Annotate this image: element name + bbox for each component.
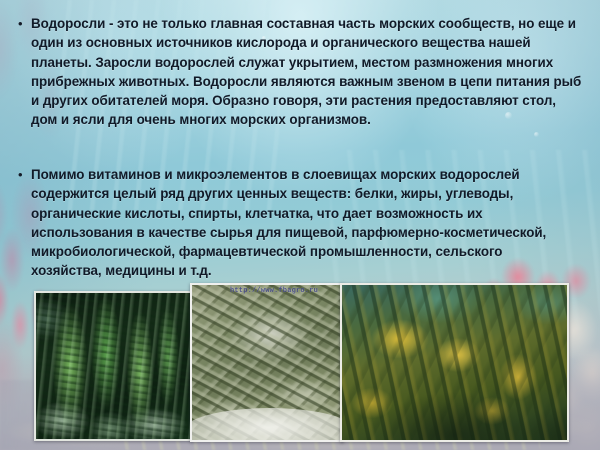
presentation-slide: • Водоросли - это не только главная сост…	[0, 0, 600, 450]
bullet-marker-icon: •	[18, 165, 31, 184]
photo-green-seaweed	[34, 291, 193, 441]
photo-kelp-salad: http://www.fbagro.ru	[190, 283, 344, 442]
slide-body-text: • Водоросли - это не только главная сост…	[0, 0, 600, 290]
bullet-item-2: • Помимо витаминов и микроэлементов в сл…	[13, 165, 573, 281]
photo-highlight-overlay	[36, 293, 191, 439]
bullet-marker-icon: •	[18, 14, 31, 33]
bullet-text-1: Водоросли - это не только главная состав…	[31, 14, 583, 130]
bullet-item-1: • Водоросли - это не только главная сост…	[13, 14, 588, 130]
photo-shadow-overlay	[342, 285, 567, 440]
photo-watermark: http://www.fbagro.ru	[230, 287, 318, 295]
bullet-text-2: Помимо витаминов и микроэлементов в слое…	[31, 165, 571, 281]
photo-plate-shape	[190, 408, 344, 442]
photo-kelp-forest	[340, 283, 569, 442]
